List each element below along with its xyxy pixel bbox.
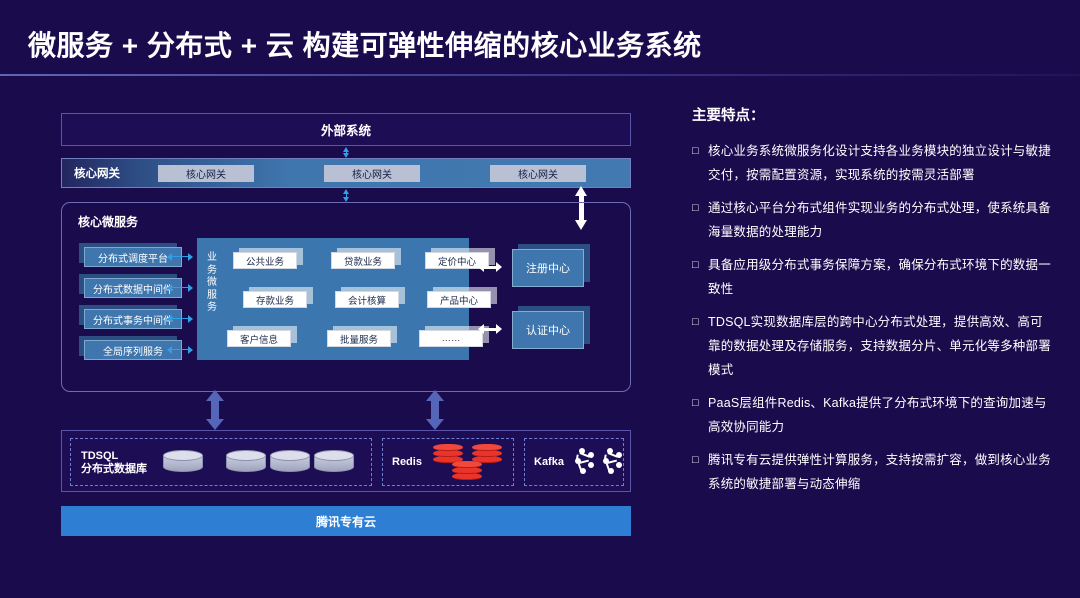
bullet-marker-icon: □	[692, 196, 708, 244]
kafka-cluster-icon	[573, 448, 599, 478]
feature-text: 通过核心平台分布式组件实现业务的分布式处理，使系统具备海量数据的处理能力	[708, 196, 1054, 244]
tdsql-label: TDSQL 分布式数据库	[81, 450, 147, 476]
core-microservices-label: 核心微服务	[78, 213, 138, 230]
feature-text: 腾讯专有云提供弹性计算服务，支持按需扩容，做到核心业务系统的敏捷部署与动态伸缩	[708, 448, 1054, 496]
module-card-more[interactable]: ……	[419, 330, 483, 347]
feature-item: □ PaaS层组件Redis、Kafka提供了分布式环境下的查询加速与高效协同能…	[692, 391, 1054, 439]
connector-arrow-icon	[167, 314, 193, 323]
gateway-chip[interactable]: 核心网关	[490, 165, 586, 182]
module-card-deposit-business[interactable]: 存款业务	[243, 291, 307, 308]
core-gateway-bar: 核心网关 核心网关 核心网关 核心网关	[61, 158, 631, 188]
cloud-bar: 腾讯专有云	[61, 506, 631, 536]
connector-arrow-icon	[478, 262, 502, 273]
bullet-marker-icon: □	[692, 253, 708, 301]
page-title: 微服务 + 分布式 + 云 构建可弹性伸缩的核心业务系统	[28, 24, 702, 64]
module-card-public-business[interactable]: 公共业务	[233, 252, 297, 269]
connector-external-gateway	[346, 147, 347, 158]
database-icon	[270, 450, 310, 476]
connector-core-data-arrow-icon	[426, 390, 444, 430]
connector-arrow-icon	[167, 345, 193, 354]
database-icon	[314, 450, 354, 476]
feature-item: □ 通过核心平台分布式组件实现业务的分布式处理，使系统具备海量数据的处理能力	[692, 196, 1054, 244]
feature-item: □ 具备应用级分布式事务保障方案，确保分布式环境下的数据一致性	[692, 253, 1054, 301]
kafka-group: Kafka	[524, 438, 624, 486]
connector-gateway-core	[346, 189, 347, 202]
database-icon	[226, 450, 266, 476]
module-card-loan-business[interactable]: 贷款业务	[331, 252, 395, 269]
module-card-batch-service[interactable]: 批量服务	[327, 330, 391, 347]
slide-root: 微服务 + 分布式 + 云 构建可弹性伸缩的核心业务系统 外部系统 核心网关 核…	[0, 0, 1080, 598]
business-microservices-block: 业务微服务 公共业务 贷款业务 定价中心 存款业务 会计核算 产品中心 客户信息	[197, 238, 469, 360]
architecture-diagram: 外部系统 核心网关 核心网关 核心网关 核心网关 核心微服务 分布式调度平台	[57, 110, 635, 542]
features-panel: 主要特点： □ 核心业务系统微服务化设计支持各业务模块的独立设计与敏捷交付，按需…	[692, 104, 1054, 505]
feature-item: □ 核心业务系统微服务化设计支持各业务模块的独立设计与敏捷交付，按需配置资源，实…	[692, 139, 1054, 187]
redis-node-icon	[452, 460, 482, 486]
bullet-marker-icon: □	[692, 310, 708, 382]
title-divider	[0, 74, 1080, 76]
tdsql-group: TDSQL 分布式数据库	[70, 438, 372, 486]
module-card-product-center[interactable]: 产品中心	[427, 291, 491, 308]
core-gateway-title: 核心网关	[74, 165, 156, 181]
business-microservices-label: 业务微服务	[205, 252, 219, 315]
feature-text: 核心业务系统微服务化设计支持各业务模块的独立设计与敏捷交付，按需配置资源，实现系…	[708, 139, 1054, 187]
data-layer-frame: TDSQL 分布式数据库 Redis Kafka	[61, 430, 631, 492]
bullet-marker-icon: □	[692, 391, 708, 439]
feature-text: PaaS层组件Redis、Kafka提供了分布式环境下的查询加速与高效协同能力	[708, 391, 1054, 439]
cloud-bar-label: 腾讯专有云	[316, 513, 376, 530]
component-card-registry-center[interactable]: 注册中心	[512, 249, 584, 287]
features-heading: 主要特点：	[692, 104, 1054, 125]
component-card-auth-center[interactable]: 认证中心	[512, 311, 584, 349]
connector-core-data-arrow-icon	[206, 390, 224, 430]
redis-group: Redis	[382, 438, 514, 486]
external-system-label: 外部系统	[321, 120, 371, 139]
connector-arrow-icon	[167, 283, 193, 292]
module-card-accounting[interactable]: 会计核算	[335, 291, 399, 308]
feature-text: TDSQL实现数据库层的跨中心分布式处理，提供高效、高可靠的数据处理及存储服务，…	[708, 310, 1054, 382]
connector-arrow-icon	[167, 252, 193, 261]
external-system-box: 外部系统	[61, 113, 631, 146]
feature-item: □ 腾讯专有云提供弹性计算服务，支持按需扩容，做到核心业务系统的敏捷部署与动态伸…	[692, 448, 1054, 496]
redis-label: Redis	[392, 456, 422, 469]
module-card-customer-info[interactable]: 客户信息	[227, 330, 291, 347]
gateway-chip[interactable]: 核心网关	[158, 165, 254, 182]
bullet-marker-icon: □	[692, 139, 708, 187]
bullet-marker-icon: □	[692, 448, 708, 496]
kafka-cluster-icon	[601, 448, 627, 478]
kafka-label: Kafka	[534, 456, 564, 469]
connector-arrow-icon	[478, 324, 502, 335]
feature-text: 具备应用级分布式事务保障方案，确保分布式环境下的数据一致性	[708, 253, 1054, 301]
database-icon	[163, 450, 203, 476]
gateway-chip[interactable]: 核心网关	[324, 165, 420, 182]
feature-item: □ TDSQL实现数据库层的跨中心分布式处理，提供高效、高可靠的数据处理及存储服…	[692, 310, 1054, 382]
